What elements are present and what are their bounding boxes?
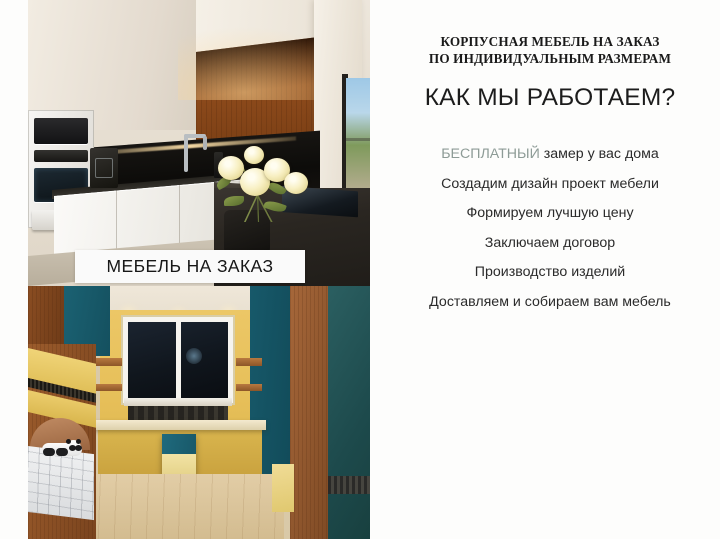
room-window-reflection (186, 348, 202, 364)
panda-ear (76, 439, 81, 444)
kicker-line-2: ПО ИНДИВИДУАЛЬНЫМ РАЗМЕРАМ (380, 50, 720, 67)
kicker-line-1: КОРПУСНАЯ МЕБЕЛЬ НА ЗАКАЗ (380, 33, 720, 50)
panda-limb (43, 448, 55, 456)
kitchen-warming-drawer (34, 150, 88, 162)
room-window-mullion (176, 322, 181, 398)
panda-plush-toy (42, 440, 82, 458)
step-item: Создадим дизайн проект мебели (380, 176, 720, 192)
room-wardrobe-right (290, 286, 330, 539)
panda-eye-patch (75, 445, 82, 451)
step-item: Доставляем и собираем вам мебель (380, 294, 720, 310)
kitchen-coffee-machine (90, 148, 118, 188)
headline: КАК МЫ РАБОТАЕМ? (380, 84, 720, 112)
kitchen-microwave (34, 118, 88, 144)
text-panel: КОРПУСНАЯ МЕБЕЛЬ НА ЗАКАЗ ПО ИНДИВИДУАЛЬ… (380, 0, 720, 539)
kitchen-window (346, 78, 370, 194)
photo-column: МЕБЕЛЬ НА ЗАКАЗ (28, 0, 370, 539)
caption-banner-text: МЕБЕЛЬ НА ЗАКАЗ (107, 256, 274, 277)
room-shelf (236, 358, 262, 366)
room-far-wall (328, 286, 370, 539)
room-floor-vent (328, 476, 370, 494)
panda-limb (56, 448, 68, 456)
chrysanthemum (284, 172, 308, 194)
room-shelf (96, 358, 122, 366)
kitchen-faucet (184, 134, 188, 172)
advert-canvas: МЕБЕЛЬ НА ЗАКАЗ (0, 0, 720, 539)
room-window-sill (124, 398, 232, 406)
step-item: БЕСПЛАТНЫЙ замер у вас дома (380, 146, 720, 162)
room-drawer-yellow-front (162, 454, 196, 474)
chrysanthemum (244, 146, 264, 164)
step-highlight: БЕСПЛАТНЫЙ (441, 146, 540, 162)
room-shelf (96, 384, 122, 391)
kitchen-photo: МЕБЕЛЬ НА ЗАКАЗ (28, 0, 370, 286)
caption-banner: МЕБЕЛЬ НА ЗАКАЗ (75, 250, 305, 283)
step-text: замер у вас дома (540, 146, 659, 162)
room-yellow-panel (272, 464, 294, 512)
room-radiator (128, 406, 228, 420)
room-shelf (236, 384, 262, 391)
steps-list: БЕСПЛАТНЫЙ замер у вас дома Создадим диз… (380, 146, 720, 324)
children-room-photo (28, 286, 370, 539)
step-item: Производство изделий (380, 264, 720, 280)
panda-ear (66, 439, 71, 444)
kicker-block: КОРПУСНАЯ МЕБЕЛЬ НА ЗАКАЗ ПО ИНДИВИДУАЛЬ… (380, 33, 720, 67)
room-floor (84, 474, 284, 539)
room-desk-top (94, 420, 266, 430)
step-item: Формируем лучшую цену (380, 205, 720, 221)
step-item: Заключаем договор (380, 235, 720, 251)
